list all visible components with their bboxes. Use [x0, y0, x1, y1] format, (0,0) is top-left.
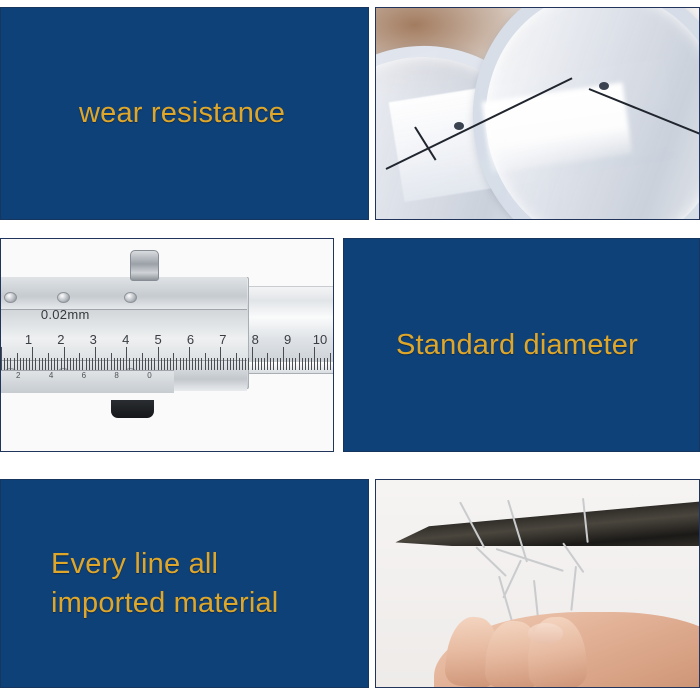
- caliper-scale-tick: [214, 358, 215, 370]
- caliper-scale-tick: [126, 347, 127, 371]
- caliper-scale-tick: [245, 358, 246, 370]
- caliper-vernier-number: 2: [16, 371, 20, 380]
- caliper-scale-tick: [223, 358, 224, 370]
- caliper-scale-tick: [1, 347, 2, 371]
- caliper-scale-tick: [111, 353, 112, 371]
- caliper-scale-tick: [98, 358, 99, 370]
- caliper-scale-tick: [136, 358, 137, 370]
- caliper-scale-tick: [95, 347, 96, 371]
- caliper-vernier-number: 6: [82, 371, 86, 380]
- caliper-scale-tick: [277, 358, 278, 370]
- caliper-main-scale: 12345678910: [1, 332, 333, 370]
- caliper-scale-tick: [289, 358, 290, 370]
- caliper-scale-tick: [45, 358, 46, 370]
- caliper-scale-tick: [236, 353, 237, 371]
- caliper-thumb-screw-icon: [130, 250, 159, 281]
- panel-spool-photo: [375, 7, 700, 220]
- caliper-scale-tick: [230, 358, 231, 370]
- caliper-scale-tick: [101, 358, 102, 370]
- caliper-scale-tick: [142, 353, 143, 371]
- caliper-scale-tick: [205, 353, 206, 371]
- caliper-scale-tick: [311, 358, 312, 370]
- caliper-scale-tick: [314, 347, 315, 371]
- caliper-scale-tick: [305, 358, 306, 370]
- caliper-scale-tick: [139, 358, 140, 370]
- caliper-scale-tick: [114, 358, 115, 370]
- caliper-scale-tick: [280, 358, 281, 370]
- caliper-photo-image: 0.02mm 12345678910 24680: [1, 239, 333, 451]
- fingernail: [528, 623, 564, 644]
- caliper-scale-tick: [39, 358, 40, 370]
- caliper-scale-tick: [273, 358, 274, 370]
- caliper-scale-tick: [51, 358, 52, 370]
- caliper-vernier-scale: 24680: [1, 370, 174, 392]
- caliper-scale-tick: [324, 358, 325, 370]
- caliper-scale-tick: [233, 358, 234, 370]
- panel-hand-lines-photo: [375, 479, 700, 688]
- caliper-scale-tick: [161, 358, 162, 370]
- caliper-scale-tick: [23, 358, 24, 370]
- caliper-scale-number: 8: [252, 332, 259, 347]
- caliper-scale-tick: [327, 358, 328, 370]
- caliper-scale-number: 7: [219, 332, 226, 347]
- caliper-scale-tick: [261, 358, 262, 370]
- caliper-scale-tick: [292, 358, 293, 370]
- caliper-scale-tick: [89, 358, 90, 370]
- caliper-scale-tick: [54, 358, 55, 370]
- caliper-scale-number: 9: [284, 332, 291, 347]
- caliper-scale-tick: [308, 358, 309, 370]
- caliper-scale-tick: [295, 358, 296, 370]
- caliper-scale-tick: [151, 358, 152, 370]
- caliper-scale-tick: [330, 353, 331, 371]
- caliper-scale-tick: [70, 358, 71, 370]
- caliper-scale-tick: [26, 358, 27, 370]
- caliper-screw-icon: [124, 292, 137, 303]
- caliper-scale-tick: [239, 358, 240, 370]
- caliper-scale-tick: [107, 358, 108, 370]
- caliper-scale-tick: [180, 358, 181, 370]
- caliper-scale-tick: [283, 347, 284, 371]
- caliper-precision-label: 0.02mm: [41, 307, 90, 322]
- caliper-scale-tick: [192, 358, 193, 370]
- line-anchor-left-icon: [454, 122, 464, 130]
- caliper-scale-tick: [10, 358, 11, 370]
- caption-imported-material-line-1: Every line all: [51, 545, 278, 584]
- caliper-scale-tick: [183, 358, 184, 370]
- caliper-scale-tick: [117, 358, 118, 370]
- caliper-scale-tick: [176, 358, 177, 370]
- caliper-scale-tick: [154, 358, 155, 370]
- caliper-scale-tick: [86, 358, 87, 370]
- caliper-scale-tick: [217, 358, 218, 370]
- caliper-scale-tick: [120, 358, 121, 370]
- caliper-vernier-number: 8: [114, 371, 118, 380]
- caliper-scale-tick: [267, 353, 268, 371]
- caliper-scale-number: 5: [154, 332, 161, 347]
- caliper-scale-tick: [164, 358, 165, 370]
- caption-standard-diameter: Standard diameter: [344, 326, 638, 365]
- caliper-scale-tick: [104, 358, 105, 370]
- caliper-scale-tick: [17, 353, 18, 371]
- caliper-scale-tick: [7, 358, 8, 370]
- caliper-scale-tick: [211, 358, 212, 370]
- caliper-scale-tick: [4, 358, 5, 370]
- caliper-scale-tick: [252, 347, 253, 371]
- caliper-scale-number: 2: [57, 332, 64, 347]
- caliper-scale-tick: [198, 358, 199, 370]
- caliper-scale-tick: [76, 358, 77, 370]
- caliper-scale-tick: [14, 358, 15, 370]
- caliper-scale-number: 10: [313, 332, 327, 347]
- caliper-scale-tick: [195, 358, 196, 370]
- panel-caliper-photo: 0.02mm 12345678910 24680: [0, 238, 334, 452]
- caliper-scale-tick: [170, 358, 171, 370]
- caption-imported-material-line-2: imported material: [51, 584, 278, 623]
- caliper-scale-tick: [35, 358, 36, 370]
- caliper-scale-tick: [123, 358, 124, 370]
- caliper-scale-tick: [57, 358, 58, 370]
- caliper-scale-tick: [67, 358, 68, 370]
- caliper-scale-tick: [208, 358, 209, 370]
- caliper-scale-tick: [317, 358, 318, 370]
- caption-imported-material: Every line all imported material: [1, 545, 278, 623]
- caliper-scale-tick: [148, 358, 149, 370]
- caliper-scale-tick: [264, 358, 265, 370]
- feature-collage: wear resistance: [0, 0, 700, 700]
- caliper-scale-tick: [64, 347, 65, 371]
- caliper-scale-tick: [73, 358, 74, 370]
- caliper-scale-tick: [42, 358, 43, 370]
- caliper-scale-tick: [299, 353, 300, 371]
- caliper-scale-tick: [133, 358, 134, 370]
- caliper-scale-tick: [167, 358, 168, 370]
- caliper-scale-tick: [248, 358, 249, 370]
- caliper-scale-tick: [129, 358, 130, 370]
- caliper-scale-tick: [61, 358, 62, 370]
- caliper-scale-tick: [32, 347, 33, 371]
- caliper-scale-number: 6: [187, 332, 194, 347]
- caliper-vernier-number: 0: [147, 371, 151, 380]
- caliper-scale-tick: [29, 358, 30, 370]
- caliper-lock-block: [111, 400, 154, 418]
- caliper-scale-tick: [158, 347, 159, 371]
- caliper-scale-tick: [79, 353, 80, 371]
- caliper-scale-tick: [302, 358, 303, 370]
- caption-wear-resistance: wear resistance: [1, 94, 285, 133]
- caliper-scale-tick: [82, 358, 83, 370]
- caliper-scale-tick: [173, 353, 174, 371]
- caliper-scale-tick: [92, 358, 93, 370]
- caliper-scale-tick: [48, 353, 49, 371]
- caliper-scale-tick: [201, 358, 202, 370]
- hand-lines-photo-image: [376, 480, 699, 687]
- caliper-scale-tick: [227, 358, 228, 370]
- caliper-scale-tick: [186, 358, 187, 370]
- caliper-scale-tick: [270, 358, 271, 370]
- caliper-scale-tick: [255, 358, 256, 370]
- caliper-scale-number: 1: [25, 332, 32, 347]
- caliper-scale-tick: [220, 347, 221, 371]
- caliper-scale-tick: [258, 358, 259, 370]
- line-anchor-right-icon: [599, 82, 609, 90]
- spool-photo-image: [376, 8, 699, 219]
- caliper-scale-tick: [320, 358, 321, 370]
- caliper-scale-tick: [189, 347, 190, 371]
- panel-standard-diameter: Standard diameter: [343, 238, 700, 452]
- caliper-scale-number: 4: [122, 332, 129, 347]
- caliper-scale-tick: [242, 358, 243, 370]
- caliper-scale-tick: [286, 358, 287, 370]
- caliper-scale-number: 3: [90, 332, 97, 347]
- caliper-vernier-number: 4: [49, 371, 53, 380]
- panel-imported-material: Every line all imported material: [0, 479, 369, 688]
- caliper-scale-tick: [20, 358, 21, 370]
- panel-wear-resistance: wear resistance: [0, 7, 369, 220]
- caliper-scale-tick: [145, 358, 146, 370]
- caliper-slider-top-rail: [1, 277, 247, 310]
